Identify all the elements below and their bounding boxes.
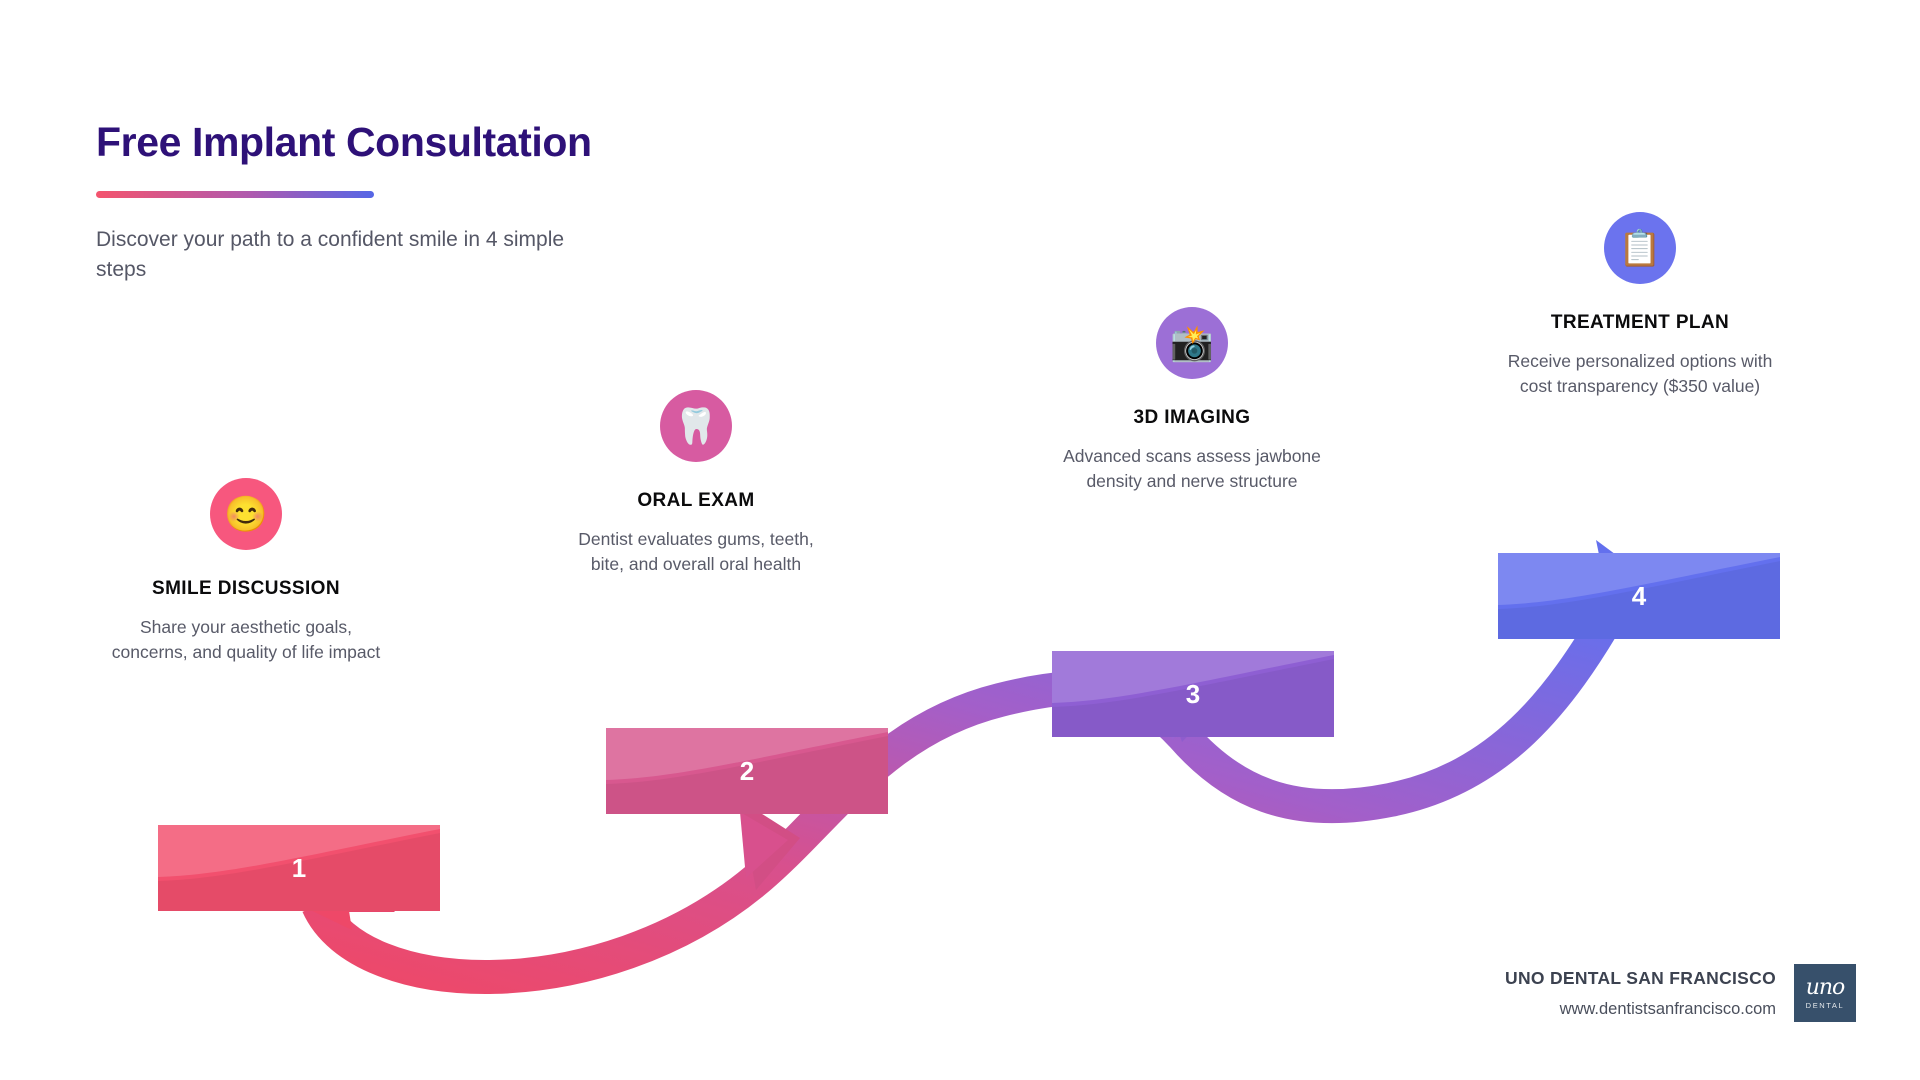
clipboard-emoji: 📋 bbox=[1618, 231, 1662, 266]
step-3-description: Advanced scans assess jawbone density an… bbox=[1042, 444, 1342, 495]
step-2-title: ORAL EXAM bbox=[546, 490, 846, 512]
tooth-emoji: 🦷 bbox=[674, 409, 718, 444]
step-2-description: Dentist evaluates gums, teeth, bite, and… bbox=[546, 527, 846, 578]
step-3: 📸 3D IMAGING Advanced scans assess jawbo… bbox=[1042, 307, 1342, 495]
brand-name: UNO DENTAL SAN FRANCISCO bbox=[1505, 968, 1776, 989]
step-4-number-bar: 4 bbox=[1498, 553, 1780, 639]
step-1: 😊 SMILE DISCUSSION Share your aesthetic … bbox=[96, 478, 396, 666]
step-1-number-bar: 1 bbox=[158, 825, 440, 911]
step-4-description: Receive personalized options with cost t… bbox=[1490, 349, 1790, 400]
smiling-face-emoji: 😊 bbox=[224, 497, 268, 532]
infographic-canvas: Free Implant Consultation Discover your … bbox=[0, 0, 1920, 1080]
step-4-number: 4 bbox=[1498, 553, 1780, 639]
step-1-title: SMILE DISCUSSION bbox=[96, 578, 396, 600]
step-2: 🦷 ORAL EXAM Dentist evaluates gums, teet… bbox=[546, 390, 846, 578]
step-4-icon-circle: 📋 bbox=[1604, 212, 1676, 284]
step-2-number-bar: 2 bbox=[606, 728, 888, 814]
step-1-icon-circle: 😊 bbox=[210, 478, 282, 550]
step-2-icon-circle: 🦷 bbox=[660, 390, 732, 462]
footer-branding: UNO DENTAL SAN FRANCISCO www.dentistsanf… bbox=[1505, 964, 1856, 1022]
step-4-title: TREATMENT PLAN bbox=[1490, 312, 1790, 334]
step-3-number: 3 bbox=[1052, 651, 1334, 737]
camera-with-flash-emoji: 📸 bbox=[1170, 326, 1214, 361]
step-3-title: 3D IMAGING bbox=[1042, 407, 1342, 429]
logo-script-text: uno bbox=[1806, 977, 1845, 999]
uno-dental-logo: uno DENTAL bbox=[1794, 964, 1856, 1022]
logo-subtext: DENTAL bbox=[1806, 1001, 1845, 1010]
brand-url[interactable]: www.dentistsanfrancisco.com bbox=[1505, 1000, 1776, 1019]
step-3-number-bar: 3 bbox=[1052, 651, 1334, 737]
footer-text: UNO DENTAL SAN FRANCISCO www.dentistsanf… bbox=[1505, 968, 1776, 1019]
step-1-number: 1 bbox=[158, 825, 440, 911]
step-3-icon-circle: 📸 bbox=[1156, 307, 1228, 379]
step-2-number: 2 bbox=[606, 728, 888, 814]
step-4: 📋 TREATMENT PLAN Receive personalized op… bbox=[1490, 212, 1790, 400]
step-1-description: Share your aesthetic goals, concerns, an… bbox=[96, 615, 396, 666]
